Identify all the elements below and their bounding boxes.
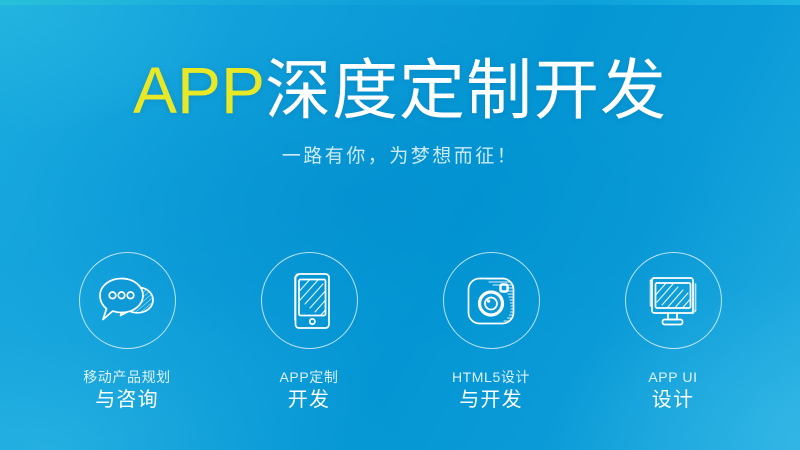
heading-block: APP深度定制开发 一路有你，为梦想而征！ [0, 0, 800, 168]
feature-label-top: HTML5设计 [452, 369, 530, 386]
speech-bubble-icon [96, 274, 158, 328]
page-title-accent: APP [133, 53, 265, 127]
promo-banner: APP深度定制开发 一路有你，为梦想而征！ [0, 0, 800, 450]
feature-label-top: APP UI [648, 369, 697, 386]
feature-label-bottom: 与咨询 [83, 389, 171, 413]
feature-label-bottom: 与开发 [452, 389, 530, 413]
feature-icon-circle [443, 252, 540, 349]
feature-label-bottom: 设计 [648, 389, 697, 413]
feature-label-top: APP定制 [279, 369, 338, 386]
feature-icon-circle [79, 252, 176, 349]
feature-row: 移动产品规划 与咨询 [0, 252, 800, 412]
feature-item[interactable]: APP定制 开发 [218, 252, 400, 412]
tablet-icon [286, 270, 332, 332]
feature-labels: APP定制 开发 [279, 369, 338, 412]
page-subtitle: 一路有你，为梦想而征！ [0, 125, 800, 168]
feature-labels: HTML5设计 与开发 [452, 369, 530, 412]
feature-item[interactable]: APP UI 设计 [582, 252, 764, 412]
feature-labels: APP UI 设计 [648, 369, 697, 412]
page-title-rest: 深度定制开发 [265, 53, 667, 127]
feature-icon-circle [261, 252, 358, 349]
feature-label-bottom: 开发 [279, 389, 338, 413]
feature-icon-circle [625, 252, 722, 349]
feature-item[interactable]: 移动产品规划 与咨询 [36, 252, 218, 412]
page-title: APP深度定制开发 [0, 0, 800, 125]
feature-label-top: 移动产品规划 [83, 369, 171, 386]
camera-icon [462, 272, 520, 330]
feature-item[interactable]: HTML5设计 与开发 [400, 252, 582, 412]
feature-labels: 移动产品规划 与咨询 [83, 369, 171, 412]
desktop-monitor-icon [642, 273, 704, 329]
